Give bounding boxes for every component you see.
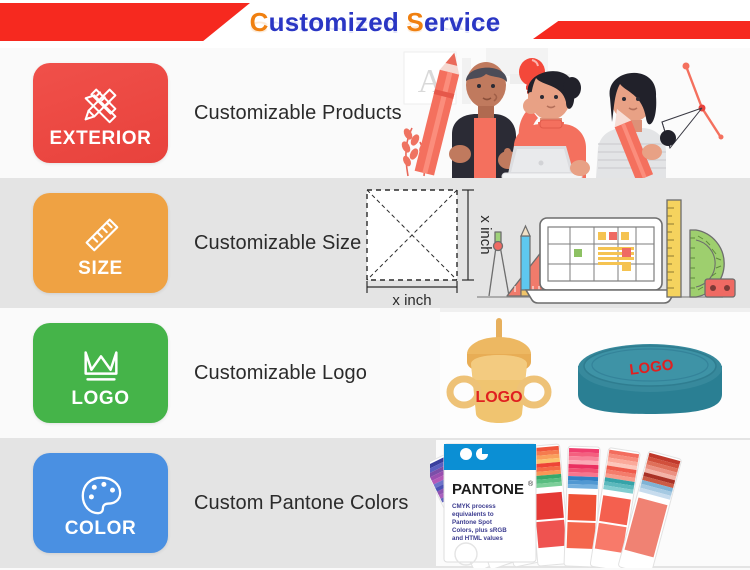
pencil-ruler-icon [78, 81, 124, 127]
size-height-label: x inch [477, 215, 494, 254]
page-title-part-1: ustomized [269, 7, 407, 37]
badge-logo-label: LOGO [71, 389, 129, 408]
svg-text:equivalents to: equivalents to [452, 511, 494, 518]
feature-row-logo[interactable]: LOGO LOGO LOGO [0, 308, 750, 438]
designers-illustration: A [390, 48, 750, 178]
size-diagram: x inch x inch [355, 178, 750, 308]
feature-row-exterior[interactable]: A [0, 48, 750, 178]
page-title-cap-2: S [406, 7, 424, 37]
page-header: Customized Service Customized Service [0, 0, 750, 48]
page-title-cap-1: C [250, 7, 269, 37]
customized-service-page: Customized Service Customized Service A [0, 0, 750, 570]
crown-icon [78, 341, 124, 387]
badge-exterior-label: EXTERIOR [50, 129, 152, 148]
feature-row-size[interactable]: x inch x inch [0, 178, 750, 308]
feature-row-color[interactable]: PANTONE ® CMYK process equivalents to Pa… [0, 438, 750, 568]
page-title-part-2: ervice [424, 7, 500, 37]
svg-text:CMYK process: CMYK process [452, 503, 496, 510]
palette-icon [78, 471, 124, 517]
feature-label-logo: Customizable Logo [194, 362, 367, 385]
size-width-label: x inch [392, 292, 431, 308]
badge-color[interactable]: COLOR [33, 453, 168, 553]
feature-label-color: Custom Pantone Colors [194, 492, 408, 515]
svg-text:Colors, plus sRGB: Colors, plus sRGB [452, 527, 507, 534]
badge-logo[interactable]: LOGO [33, 323, 168, 423]
badge-color-label: COLOR [65, 519, 137, 538]
badge-size[interactable]: SIZE [33, 193, 168, 293]
pantone-brand-text: PANTONE [452, 481, 524, 498]
pantone-fan-deck: PANTONE ® CMYK process equivalents to Pa… [430, 438, 750, 568]
ruler-icon [78, 211, 124, 257]
feature-label-size: Customizable Size [194, 232, 361, 255]
sippy-cup-logo-text: LOGO [475, 389, 522, 406]
page-title: Customized Service Customized Service [250, 9, 501, 35]
logo-products: LOGO LOGO [440, 308, 750, 438]
badge-exterior[interactable]: EXTERIOR [33, 63, 168, 163]
svg-text:®: ® [528, 480, 534, 488]
svg-text:Pantone Spot: Pantone Spot [452, 519, 492, 526]
page-title-wrap: Customized Service Customized Service [0, 0, 750, 48]
svg-text:and HTML values: and HTML values [452, 535, 503, 542]
feature-label-exterior: Customizable Products [194, 102, 402, 125]
badge-size-label: SIZE [78, 259, 123, 278]
